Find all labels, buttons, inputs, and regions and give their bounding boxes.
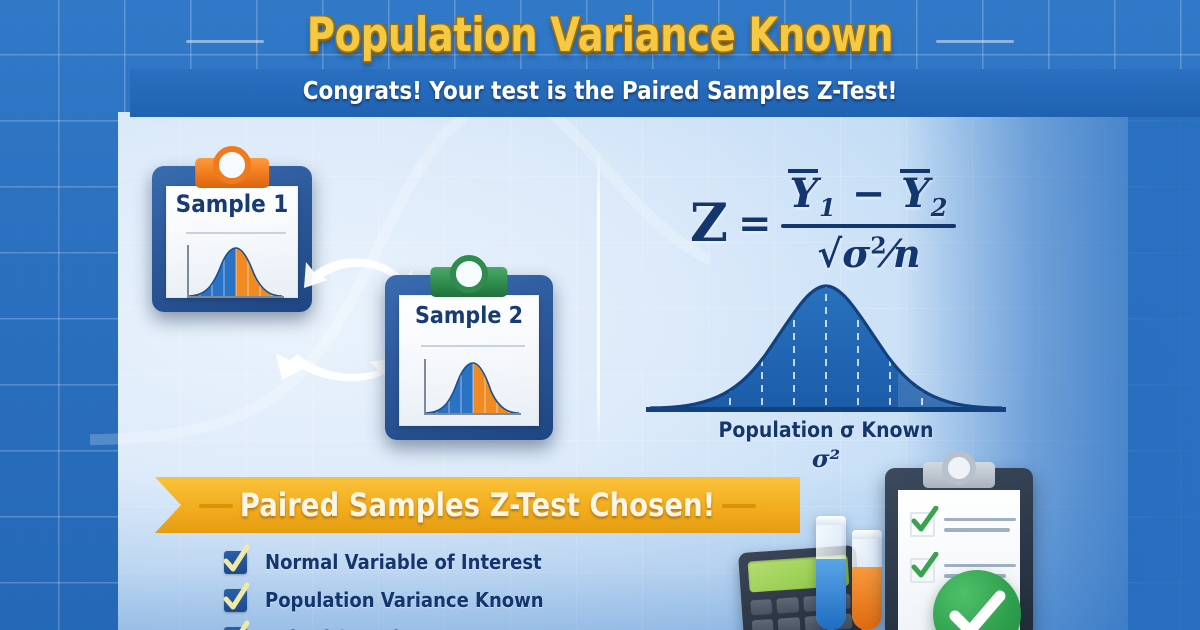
formula-y2-bar: Y — [901, 170, 931, 217]
checkbox-checked-icon[interactable] — [224, 627, 247, 630]
clipboard-check-row — [910, 512, 1016, 537]
calculator-key — [752, 619, 774, 630]
formula-equals-sign: = — [738, 200, 772, 247]
sample-2-chart — [417, 355, 523, 421]
calculator-key — [776, 597, 798, 613]
vertical-divider — [597, 148, 600, 448]
checklist-item-label: Normal Variable of Interest — [265, 550, 542, 574]
sample-1-label: Sample 1 — [160, 190, 304, 218]
checkbox-checked-icon[interactable] — [224, 589, 247, 612]
clipboard-line — [944, 564, 1016, 568]
page-title: Population Variance Known — [108, 8, 1092, 63]
infographic-canvas: Population Variance Known Congrats! Your… — [0, 0, 1200, 630]
checkbox-checked-icon[interactable] — [224, 551, 247, 574]
checklist-item[interactable]: Normal Variable of Interest — [224, 543, 744, 581]
checklist-item[interactable]: Paired Samples — [224, 619, 744, 630]
formula-numerator: Y1 − Y2 — [781, 170, 956, 224]
test-tube-rim — [816, 516, 846, 525]
page-subtitle: Congrats! Your test is the Paired Sample… — [84, 76, 1116, 105]
test-tube-blue-liquid — [816, 559, 846, 630]
sample-2-clipboard[interactable]: Sample 2 — [385, 275, 553, 440]
population-curve-caption: Population σ Known — [655, 418, 997, 442]
check-icon — [933, 570, 1021, 630]
sample-1-clipboard[interactable]: Sample 1 — [152, 166, 312, 312]
formula-y2-subscript: 2 — [931, 193, 949, 222]
exchange-arrow-lower-icon — [272, 338, 402, 398]
calculator-key — [778, 617, 800, 630]
clipboard-clip-ring-icon — [450, 255, 488, 293]
population-bell-curve — [636, 268, 1016, 418]
formula-minus-sign: − — [852, 170, 887, 217]
formula-z-symbol: Z — [690, 193, 728, 254]
clipboard-divider-rule — [186, 232, 286, 234]
clipboard-clip-ring-icon — [213, 146, 251, 184]
clipboard-divider-rule — [421, 345, 525, 347]
approved-check-badge-icon — [933, 570, 1021, 630]
ribbon-label: Paired Samples Z-Test Chosen! — [200, 486, 755, 524]
sample-1-chart — [182, 242, 286, 302]
z-statistic-formula: Z = Y1 − Y2 √σ2⁄n — [690, 170, 956, 276]
test-tube-orange-liquid — [852, 567, 882, 630]
clipboard-clip-ring-icon — [942, 451, 976, 485]
checklist-item-label: Population Variance Known — [265, 588, 544, 612]
result-ribbon: Paired Samples Z-Test Chosen! — [155, 477, 800, 533]
formula-y1-bar: Y — [789, 170, 819, 217]
test-tube-orange-icon — [852, 530, 882, 630]
formula-fraction: Y1 − Y2 √σ2⁄n — [781, 170, 956, 276]
clipboard-text-lines — [944, 518, 1016, 532]
checklist-item-label: Paired Samples — [265, 626, 422, 630]
formula-sigma-exponent: 2 — [870, 231, 886, 259]
clipboard-checkbox — [910, 558, 935, 583]
calculator-key — [750, 599, 772, 615]
header: Population Variance Known Congrats! Your… — [0, 0, 1200, 118]
criteria-checklist: Normal Variable of Interest Population V… — [224, 543, 744, 630]
test-tube-rim — [852, 530, 882, 539]
test-tube-blue-icon — [816, 516, 846, 630]
clipboard-checkbox — [910, 512, 935, 537]
clipboard-line — [944, 528, 1010, 532]
formula-y1-subscript: 1 — [819, 193, 837, 222]
checklist-item[interactable]: Population Variance Known — [224, 581, 744, 619]
sample-2-label: Sample 2 — [393, 303, 544, 329]
clipboard-line — [944, 518, 1016, 522]
